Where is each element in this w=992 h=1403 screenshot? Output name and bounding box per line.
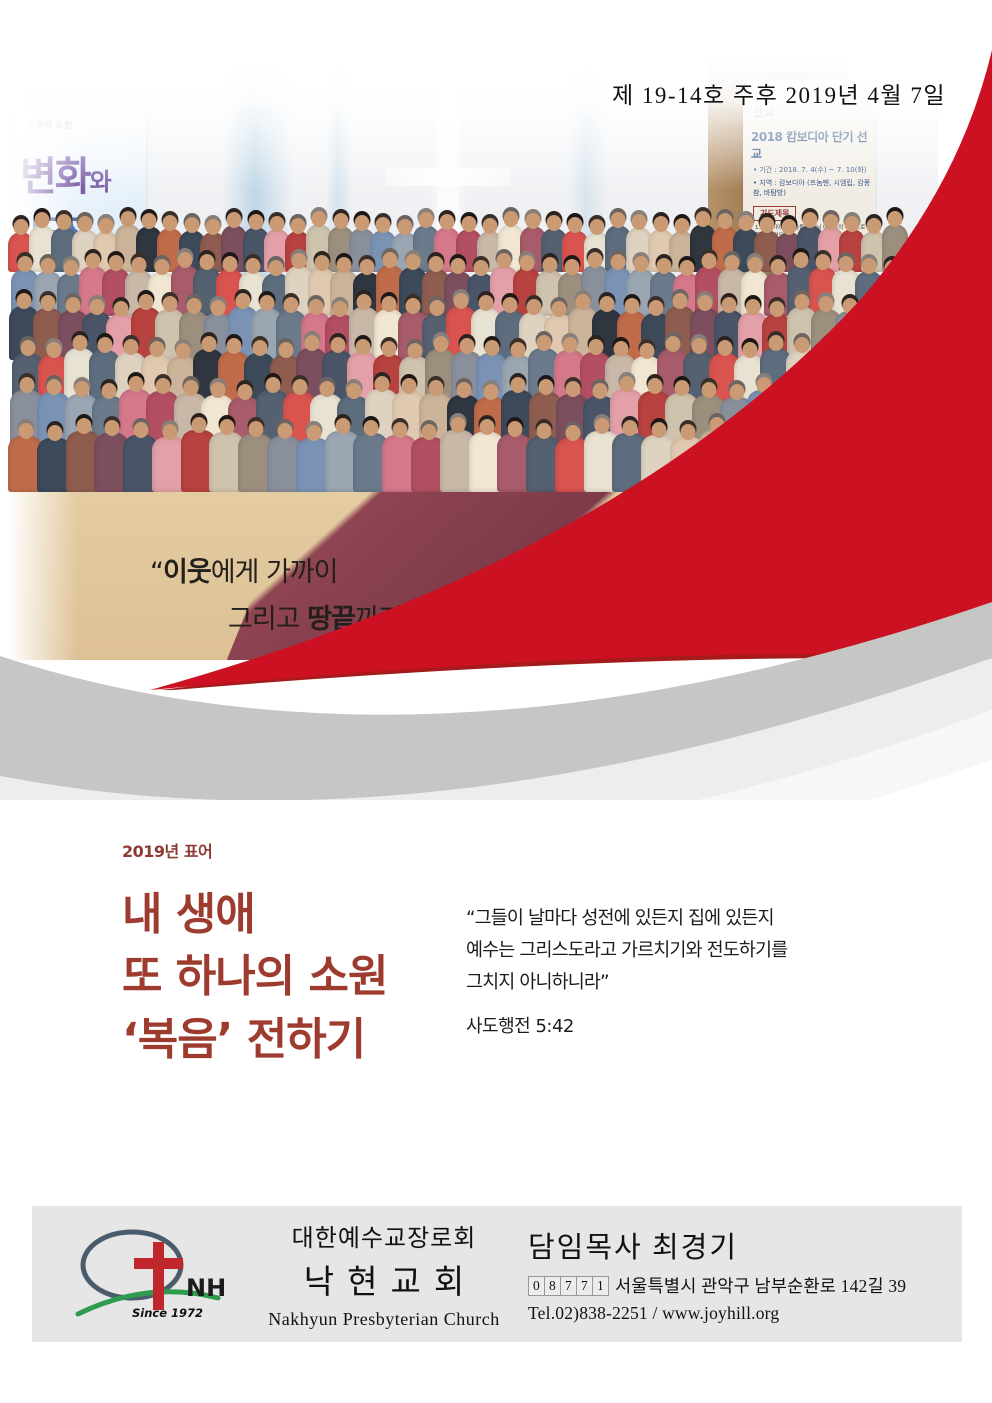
church-address-row: 08771 서울특별시 관악구 남부순환로 142길 39: [528, 1273, 962, 1298]
slogan-line-1-emphasis: 이웃: [163, 557, 211, 588]
slogan-line-2: 그리고 땅끝까지”: [150, 597, 570, 636]
logo-cross-vertical-icon: [153, 1242, 164, 1310]
motto-lines: 내 생애 또 하나의 소원 ‘복음’ 전하기: [122, 884, 388, 1071]
footer-bar: NH Since 1972 대한예수교장로회 낙현교회 Nakhyun Pres…: [32, 1206, 962, 1342]
verse-line-3: 그치지 아니하니라”: [466, 967, 866, 999]
slogan-line-2-rest: 그리고: [228, 604, 307, 635]
pastor-name: 담임목사 최경기: [528, 1224, 962, 1266]
postal-code-digit: 7: [560, 1276, 577, 1296]
logo-monogram: NH: [186, 1274, 226, 1302]
slogan-line-1: “이웃에게 가까이: [150, 550, 570, 589]
crowd-row: [8, 430, 938, 492]
slogan-line-2-tail: 까지”: [355, 604, 416, 635]
denomination-name: 대한예수교장로회: [258, 1218, 510, 1253]
congregation-crowd: [8, 210, 938, 500]
postal-code: 08771: [528, 1276, 608, 1296]
slogan-open-quote: “: [150, 557, 163, 588]
red-swoosh-cut: [150, 658, 992, 740]
hero-section: 변화와 도전 변화와 도전 2018 캄보디아 단기 선교 2018 캄보디아 …: [0, 0, 992, 800]
gray-swoosh-band-light: [0, 658, 992, 800]
church-name-korean: 낙현교회: [258, 1255, 510, 1303]
gray-swoosh-band-lighter: [0, 710, 992, 800]
address-text: 서울특별시 관악구 남부순환로 142길 39: [615, 1273, 906, 1298]
motto-line-1: 내 생애: [122, 884, 388, 946]
verse-reference: 사도행전 5:42: [466, 1012, 866, 1038]
bulletin-cover-page: 변화와 도전 변화와 도전 2018 캄보디아 단기 선교 2018 캄보디아 …: [0, 0, 992, 1403]
photo-overlay-slogan: “이웃에게 가까이 그리고 땅끝까지”: [150, 550, 570, 636]
postal-code-digit: 7: [576, 1276, 593, 1296]
postal-code-digit: 0: [528, 1276, 545, 1296]
verse-line-2: 예수는 그리스도라고 가르치기와 전도하기를: [466, 935, 866, 967]
motto-label: 2019년 표어: [122, 838, 388, 862]
verse-line-1: “그들이 날마다 성전에 있든지 집에 있든지: [466, 903, 866, 935]
logo-cross-horizontal-icon: [134, 1258, 183, 1269]
church-name-block: 대한예수교장로회 낙현교회 Nakhyun Presbyterian Churc…: [258, 1218, 510, 1330]
church-logo: NH Since 1972: [58, 1218, 246, 1330]
slogan-line-1-rest: 에게 가까이: [211, 557, 338, 588]
telephone-and-website: Tel.02)838-2251 / www.joyhill.org: [528, 1303, 962, 1324]
crowd-person: [871, 433, 906, 492]
motto-line-2: 또 하나의 소원: [122, 946, 388, 1008]
verse-text: “그들이 날마다 성전에 있든지 집에 있든지 예수는 그리스도라고 가르치기와…: [466, 903, 866, 998]
postal-code-digit: 8: [544, 1276, 561, 1296]
motto-line-3: ‘복음’ 전하기: [122, 1009, 388, 1071]
contact-block: 담임목사 최경기 08771 서울특별시 관악구 남부순환로 142길 39 T…: [528, 1224, 962, 1324]
slogan-line-2-emphasis: 땅끝: [307, 604, 355, 635]
year-motto-block: 2019년 표어 내 생애 또 하나의 소원 ‘복음’ 전하기: [122, 838, 388, 1071]
postal-code-digit: 1: [592, 1276, 609, 1296]
bulletin-issue-date: 제 19-14호 주후 2019년 4월 7일: [612, 76, 946, 110]
logo-since-text: Since 1972: [132, 1306, 203, 1320]
church-name-english: Nakhyun Presbyterian Church: [258, 1309, 510, 1330]
bible-verse-block: “그들이 날마다 성전에 있든지 집에 있든지 예수는 그리스도라고 가르치기와…: [466, 903, 866, 1038]
